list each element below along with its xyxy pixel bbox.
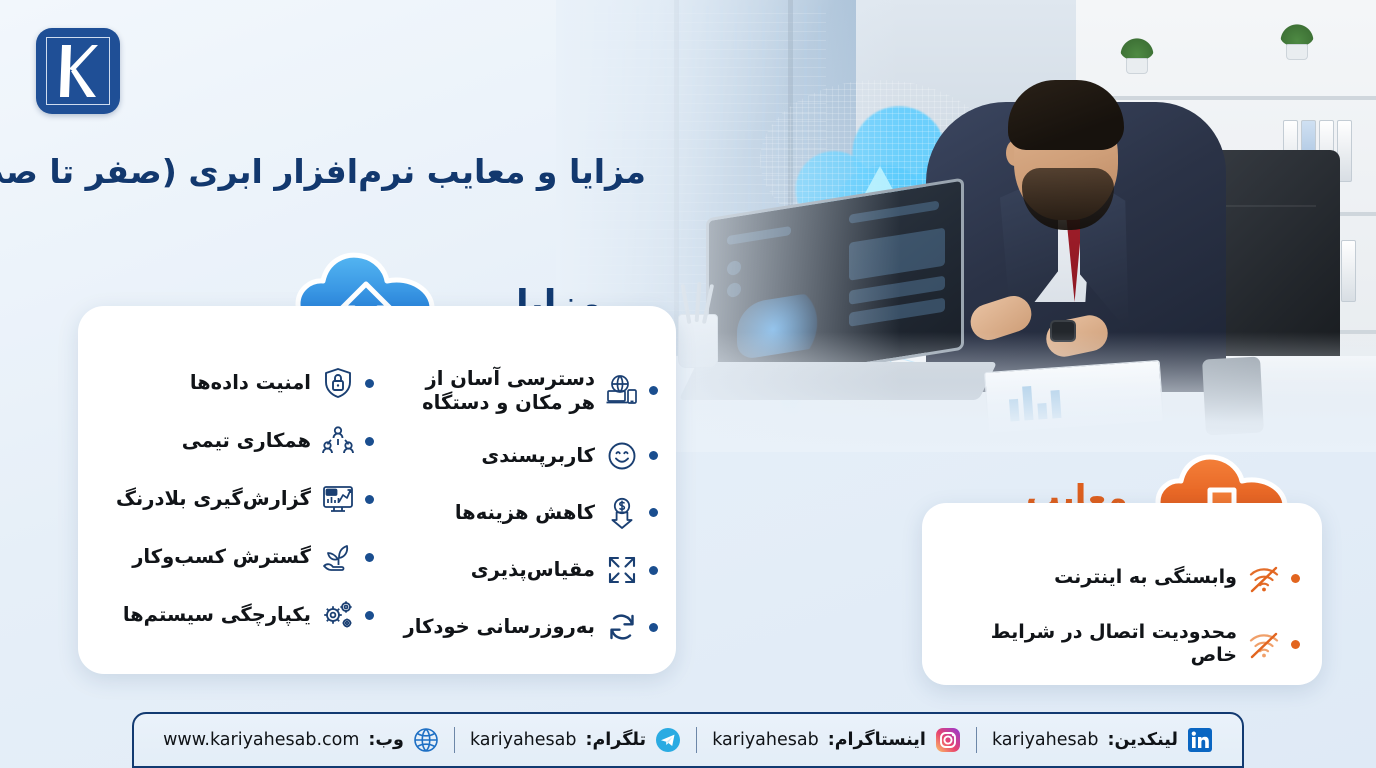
list-item-label: محدودیت اتصال در شرایط خاص [944,621,1237,667]
telegram-icon [655,727,681,753]
footer-divider [454,727,455,753]
instagram-icon [935,727,961,753]
footer-contact-website[interactable]: وب: www.kariyahesab.com [163,727,439,753]
bullet-point [365,553,374,562]
globe-devices-icon [605,374,639,408]
footer-label: تلگرام: [585,730,646,750]
hand-plant-growth-icon [321,540,355,574]
list-item[interactable]: یکپارچگی سیستم‌ها [96,586,374,644]
live-report-monitor-icon [321,482,355,516]
bullet-point [1291,574,1300,583]
linkedin-icon [1187,727,1213,753]
footer-contact-telegram[interactable]: تلگرام: kariyahesab [470,727,681,753]
logo-k-icon [56,43,100,99]
list-item-label: گزارش‌گیری بلادرنگ [116,487,311,511]
bullet-point [649,508,658,517]
pros-column-left: دسترسی آسان از هر مکان و دستگاه کاربرپسن… [380,348,658,656]
expand-arrows-icon [605,553,639,587]
bullet-point [365,379,374,388]
bullet-point [649,566,658,575]
footer-contact-bar: لینکدین: kariyahesab [132,712,1244,768]
bullet-point [649,386,658,395]
footer-value: kariyahesab [470,730,577,750]
cons-list: وابستگی به اینترنت محدودیت اتصال در شرای… [944,551,1300,671]
hero-photo [556,0,1376,452]
list-item[interactable]: گزارش‌گیری بلادرنگ [96,470,374,528]
list-item[interactable]: همکاری تیمی [96,412,374,470]
team-collaboration-icon [321,424,355,458]
list-item-label: دسترسی آسان از هر مکان و دستگاه [422,367,595,415]
list-item[interactable]: دسترسی آسان از هر مکان و دستگاه [380,354,658,427]
footer-label: لینکدین: [1107,730,1177,750]
shield-lock-icon [321,366,355,400]
photo-bottom-fade [556,332,1376,452]
list-item-label: کاربرپسندی [481,444,595,468]
bullet-point [365,611,374,620]
footer-value: www.kariyahesab.com [163,730,359,750]
footer-contact-linkedin[interactable]: لینکدین: kariyahesab [992,727,1213,753]
list-item[interactable]: به‌روزرسانی خودکار [380,599,658,656]
footer-label: وب: [368,730,403,750]
list-item-label: امنیت داده‌ها [190,371,311,395]
list-item[interactable]: محدودیت اتصال در شرایط خاص [944,617,1300,671]
bullet-point [649,623,658,632]
footer-value: kariyahesab [712,730,819,750]
list-item[interactable]: کاربرپسندی [380,427,658,484]
list-item-label: گسترش کسب‌وکار [132,545,311,569]
bullet-point [1291,640,1300,649]
brand-logo-frame [46,37,110,105]
footer-divider [976,727,977,753]
footer-contact-instagram[interactable]: اینستاگرام: kariyahesab [712,727,961,753]
list-item[interactable]: گسترش کسب‌وکار [96,528,374,586]
infographic-canvas: مزایا و معایب نرم‌افزار ابری (صفر تا صد)… [0,0,1376,768]
footer-divider [696,727,697,753]
bullet-point [365,495,374,504]
list-item-label: به‌روزرسانی خودکار [404,615,595,639]
list-item-label: یکپارچگی سیستم‌ها [123,603,311,627]
list-item-label: همکاری تیمی [182,429,311,453]
brand-logo[interactable] [36,28,120,114]
globe-icon [413,727,439,753]
list-item[interactable]: مقیاس‌پذیری [380,542,658,599]
wifi-off-icon [1247,627,1281,661]
wifi-off-icon [1247,561,1281,595]
list-item-label: مقیاس‌پذیری [471,558,595,582]
gears-integration-icon [321,598,355,632]
page-title: مزایا و معایب نرم‌افزار ابری (صفر تا صد) [0,152,646,191]
pros-columns: امنیت داده‌ها همکاری تیمی [96,348,658,656]
list-item[interactable]: کاهش هزینه‌ها [380,484,658,541]
list-item[interactable]: امنیت داده‌ها [96,354,374,412]
pros-column-right: امنیت داده‌ها همکاری تیمی [96,348,374,656]
dollar-down-arrow-icon [605,496,639,530]
smiley-face-icon [605,439,639,473]
sync-refresh-icon [605,610,639,644]
bullet-point [649,451,658,460]
list-item-label: کاهش هزینه‌ها [455,501,595,525]
list-item[interactable]: وابستگی به اینترنت [944,551,1300,605]
pros-card: امنیت داده‌ها همکاری تیمی [78,306,676,674]
footer-label: اینستاگرام: [828,730,926,750]
cons-card: وابستگی به اینترنت محدودیت اتصال در شرای… [922,503,1322,685]
list-item-label: وابستگی به اینترنت [1054,566,1237,589]
footer-value: kariyahesab [992,730,1099,750]
bullet-point [365,437,374,446]
